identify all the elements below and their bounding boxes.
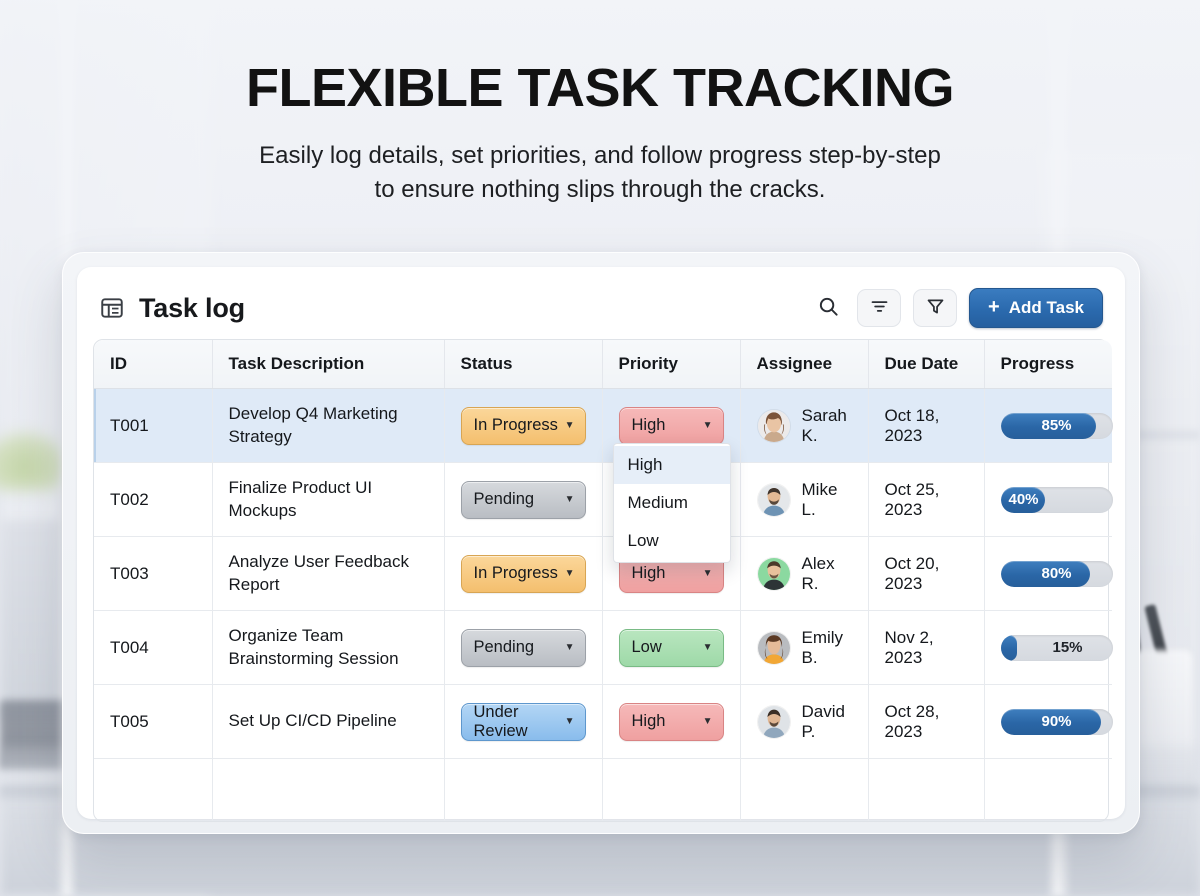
- cell-status: In Progress ▼: [444, 537, 602, 611]
- search-icon: [817, 295, 840, 321]
- progress-label: 15%: [1001, 635, 1113, 661]
- cell-progress: [984, 759, 1112, 821]
- chevron-down-icon: ▼: [565, 420, 575, 431]
- card-title: Task log: [139, 293, 245, 324]
- priority-select[interactable]: Low ▼: [619, 629, 724, 667]
- page-subtitle-line-1: Easily log details, set priorities, and …: [0, 139, 1200, 173]
- page-subtitle: Easily log details, set priorities, and …: [0, 139, 1200, 207]
- table-row[interactable]: T001 Develop Q4 Marketing Strategy In Pr…: [94, 389, 1112, 463]
- cell-priority: High ▼ High Medium Low: [602, 389, 740, 463]
- cell-due-date: Oct 28, 2023: [868, 685, 984, 759]
- chevron-down-icon: ▼: [703, 716, 713, 727]
- cell-description: Finalize Product UI Mockups: [212, 463, 444, 537]
- assignee-group: Emily B.: [757, 628, 852, 668]
- assignee-name: Mike L.: [802, 480, 852, 520]
- cell-assignee: Emily B.: [740, 611, 868, 685]
- avatar: [757, 631, 791, 665]
- add-task-button[interactable]: + Add Task: [969, 288, 1103, 328]
- cell-due-date: Oct 18, 2023: [868, 389, 984, 463]
- cell-assignee: Sarah K.: [740, 389, 868, 463]
- table-row-empty[interactable]: [94, 759, 1112, 821]
- cell-progress: 15%: [984, 611, 1112, 685]
- cell-id: T003: [94, 537, 212, 611]
- task-log-card: Task log: [77, 267, 1125, 819]
- priority-select[interactable]: High ▼: [619, 703, 724, 741]
- status-select[interactable]: In Progress ▼: [461, 407, 586, 445]
- priority-option-medium[interactable]: Medium: [614, 484, 730, 522]
- cell-assignee: David P.: [740, 685, 868, 759]
- priority-option-low[interactable]: Low: [614, 522, 730, 560]
- progress-label: 40%: [1001, 487, 1113, 513]
- card-title-group: Task log: [99, 293, 245, 324]
- status-select[interactable]: In Progress ▼: [461, 555, 586, 593]
- cell-id: T002: [94, 463, 212, 537]
- sort-lines-icon: [869, 296, 890, 320]
- page-subtitle-line-2: to ensure nothing slips through the crac…: [0, 173, 1200, 207]
- cell-due-date: Oct 25, 2023: [868, 463, 984, 537]
- assignee-name: Sarah K.: [802, 406, 852, 446]
- chevron-down-icon: ▼: [703, 642, 713, 653]
- cell-id: [94, 759, 212, 821]
- cell-priority: High ▼: [602, 685, 740, 759]
- cell-status: In Progress ▼: [444, 389, 602, 463]
- cell-due-date: Oct 20, 2023: [868, 537, 984, 611]
- avatar: [757, 409, 791, 443]
- table-header-row: ID Task Description Status Priority Assi…: [94, 340, 1112, 389]
- cell-assignee: Mike L.: [740, 463, 868, 537]
- progress-bar: 40%: [1001, 487, 1113, 513]
- cell-assignee: Alex R.: [740, 537, 868, 611]
- status-select[interactable]: Pending ▼: [461, 481, 586, 519]
- status-select[interactable]: Pending ▼: [461, 629, 586, 667]
- chevron-down-icon: ▼: [565, 494, 575, 505]
- sort-button[interactable]: [857, 289, 901, 327]
- filter-button[interactable]: [913, 289, 957, 327]
- cell-status: Pending ▼: [444, 611, 602, 685]
- table-row[interactable]: T005 Set Up CI/CD Pipeline Under Review …: [94, 685, 1112, 759]
- cell-id: T001: [94, 389, 212, 463]
- avatar: [757, 705, 791, 739]
- search-button[interactable]: [811, 291, 845, 325]
- priority-select[interactable]: High ▼: [619, 407, 724, 445]
- assignee-group: Mike L.: [757, 480, 852, 520]
- assignee-group: Alex R.: [757, 554, 852, 594]
- cell-status: Pending ▼: [444, 463, 602, 537]
- task-table-wrapper: ID Task Description Status Priority Assi…: [93, 339, 1109, 822]
- task-table: ID Task Description Status Priority Assi…: [94, 340, 1112, 821]
- table-list-icon: [99, 295, 125, 321]
- status-label: In Progress: [474, 564, 558, 583]
- toolbar-actions: + Add Task: [811, 288, 1103, 328]
- status-label: In Progress: [474, 416, 558, 435]
- progress-bar: 85%: [1001, 413, 1113, 439]
- cell-progress: 85%: [984, 389, 1112, 463]
- cell-id: T004: [94, 611, 212, 685]
- column-header-description[interactable]: Task Description: [212, 340, 444, 389]
- chevron-down-icon: ▼: [703, 420, 713, 431]
- cell-priority: [602, 759, 740, 821]
- priority-label: High: [632, 712, 666, 731]
- column-header-assignee[interactable]: Assignee: [740, 340, 868, 389]
- table-row[interactable]: T002 Finalize Product UI Mockups Pending…: [94, 463, 1112, 537]
- column-header-id[interactable]: ID: [94, 340, 212, 389]
- column-header-progress[interactable]: Progress: [984, 340, 1112, 389]
- assignee-group: Sarah K.: [757, 406, 852, 446]
- assignee-name: Emily B.: [802, 628, 852, 668]
- cell-description: Organize Team Brainstorming Session: [212, 611, 444, 685]
- chevron-down-icon: ▼: [565, 642, 575, 653]
- priority-dropdown-menu[interactable]: High Medium Low: [613, 443, 731, 563]
- progress-label: 80%: [1001, 561, 1113, 587]
- cell-description: Set Up CI/CD Pipeline: [212, 685, 444, 759]
- card-toolbar: Task log: [93, 281, 1109, 335]
- cell-id: T005: [94, 685, 212, 759]
- avatar: [757, 483, 791, 517]
- avatar: [757, 557, 791, 591]
- cell-progress: 80%: [984, 537, 1112, 611]
- status-label: Pending: [474, 638, 535, 657]
- priority-label: High: [632, 416, 666, 435]
- table-row[interactable]: T003 Analyze User Feedback Report In Pro…: [94, 537, 1112, 611]
- table-body: T001 Develop Q4 Marketing Strategy In Pr…: [94, 389, 1112, 821]
- device-frame: Task log: [62, 252, 1140, 834]
- chevron-down-icon: ▼: [565, 716, 575, 727]
- cell-due-date: Nov 2, 2023: [868, 611, 984, 685]
- cell-status: [444, 759, 602, 821]
- assignee-name: Alex R.: [802, 554, 852, 594]
- cell-progress: 40%: [984, 463, 1112, 537]
- cell-assignee: [740, 759, 868, 821]
- chevron-down-icon: ▼: [565, 568, 575, 579]
- assignee-group: David P.: [757, 702, 852, 742]
- add-task-label: Add Task: [1009, 298, 1084, 318]
- column-header-status[interactable]: Status: [444, 340, 602, 389]
- progress-bar: 90%: [1001, 709, 1113, 735]
- hero-text-block: FLEXIBLE TASK TRACKING Easily log detail…: [0, 60, 1200, 207]
- table-row[interactable]: T004 Organize Team Brainstorming Session…: [94, 611, 1112, 685]
- cell-due-date: [868, 759, 984, 821]
- progress-label: 85%: [1001, 413, 1113, 439]
- plus-icon: +: [988, 297, 1000, 317]
- cell-description: Develop Q4 Marketing Strategy: [212, 389, 444, 463]
- cell-status: Under Review ▼: [444, 685, 602, 759]
- column-header-priority[interactable]: Priority: [602, 340, 740, 389]
- status-label: Pending: [474, 490, 535, 509]
- priority-option-high[interactable]: High: [614, 446, 730, 484]
- cell-priority: Low ▼: [602, 611, 740, 685]
- page-title: FLEXIBLE TASK TRACKING: [0, 60, 1200, 117]
- chevron-down-icon: ▼: [703, 568, 713, 579]
- priority-label: High: [632, 564, 666, 583]
- priority-label: Low: [632, 638, 662, 657]
- progress-bar: 80%: [1001, 561, 1113, 587]
- assignee-name: David P.: [802, 702, 852, 742]
- progress-label: 90%: [1001, 709, 1113, 735]
- column-header-due-date[interactable]: Due Date: [868, 340, 984, 389]
- progress-bar: 15%: [1001, 635, 1113, 661]
- cell-description: Analyze User Feedback Report: [212, 537, 444, 611]
- cell-progress: 90%: [984, 685, 1112, 759]
- status-label: Under Review: [474, 703, 559, 741]
- table-header: ID Task Description Status Priority Assi…: [94, 340, 1112, 389]
- status-select[interactable]: Under Review ▼: [461, 703, 586, 741]
- funnel-filter-icon: [925, 296, 946, 320]
- cell-description: [212, 759, 444, 821]
